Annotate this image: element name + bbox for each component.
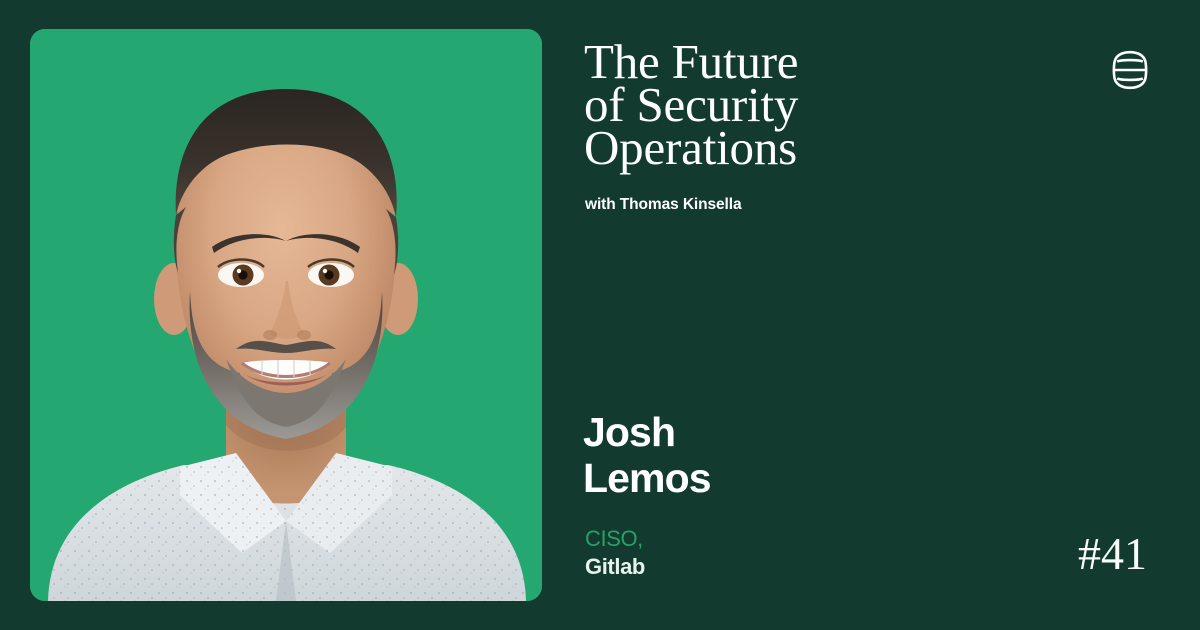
guest-photo-card (30, 29, 542, 601)
guest-role: CISO, (585, 525, 645, 553)
host-byline: with Thomas Kinsella (585, 196, 741, 214)
guest-company: Gitlab (585, 553, 645, 581)
guest-first-name: Josh (583, 409, 711, 455)
tines-barrel-logo-icon (1108, 48, 1152, 92)
guest-portrait-image (30, 29, 542, 601)
show-title-line-3: Operations (584, 126, 1004, 169)
show-title: The Future of Security Operations (584, 40, 1004, 169)
guest-last-name: Lemos (583, 455, 711, 501)
episode-number: #41 (1078, 531, 1147, 577)
guest-title-block: CISO, Gitlab (585, 525, 645, 581)
podcast-episode-cover: The Future of Security Operations with T… (0, 0, 1200, 630)
guest-name: Josh Lemos (583, 409, 711, 501)
